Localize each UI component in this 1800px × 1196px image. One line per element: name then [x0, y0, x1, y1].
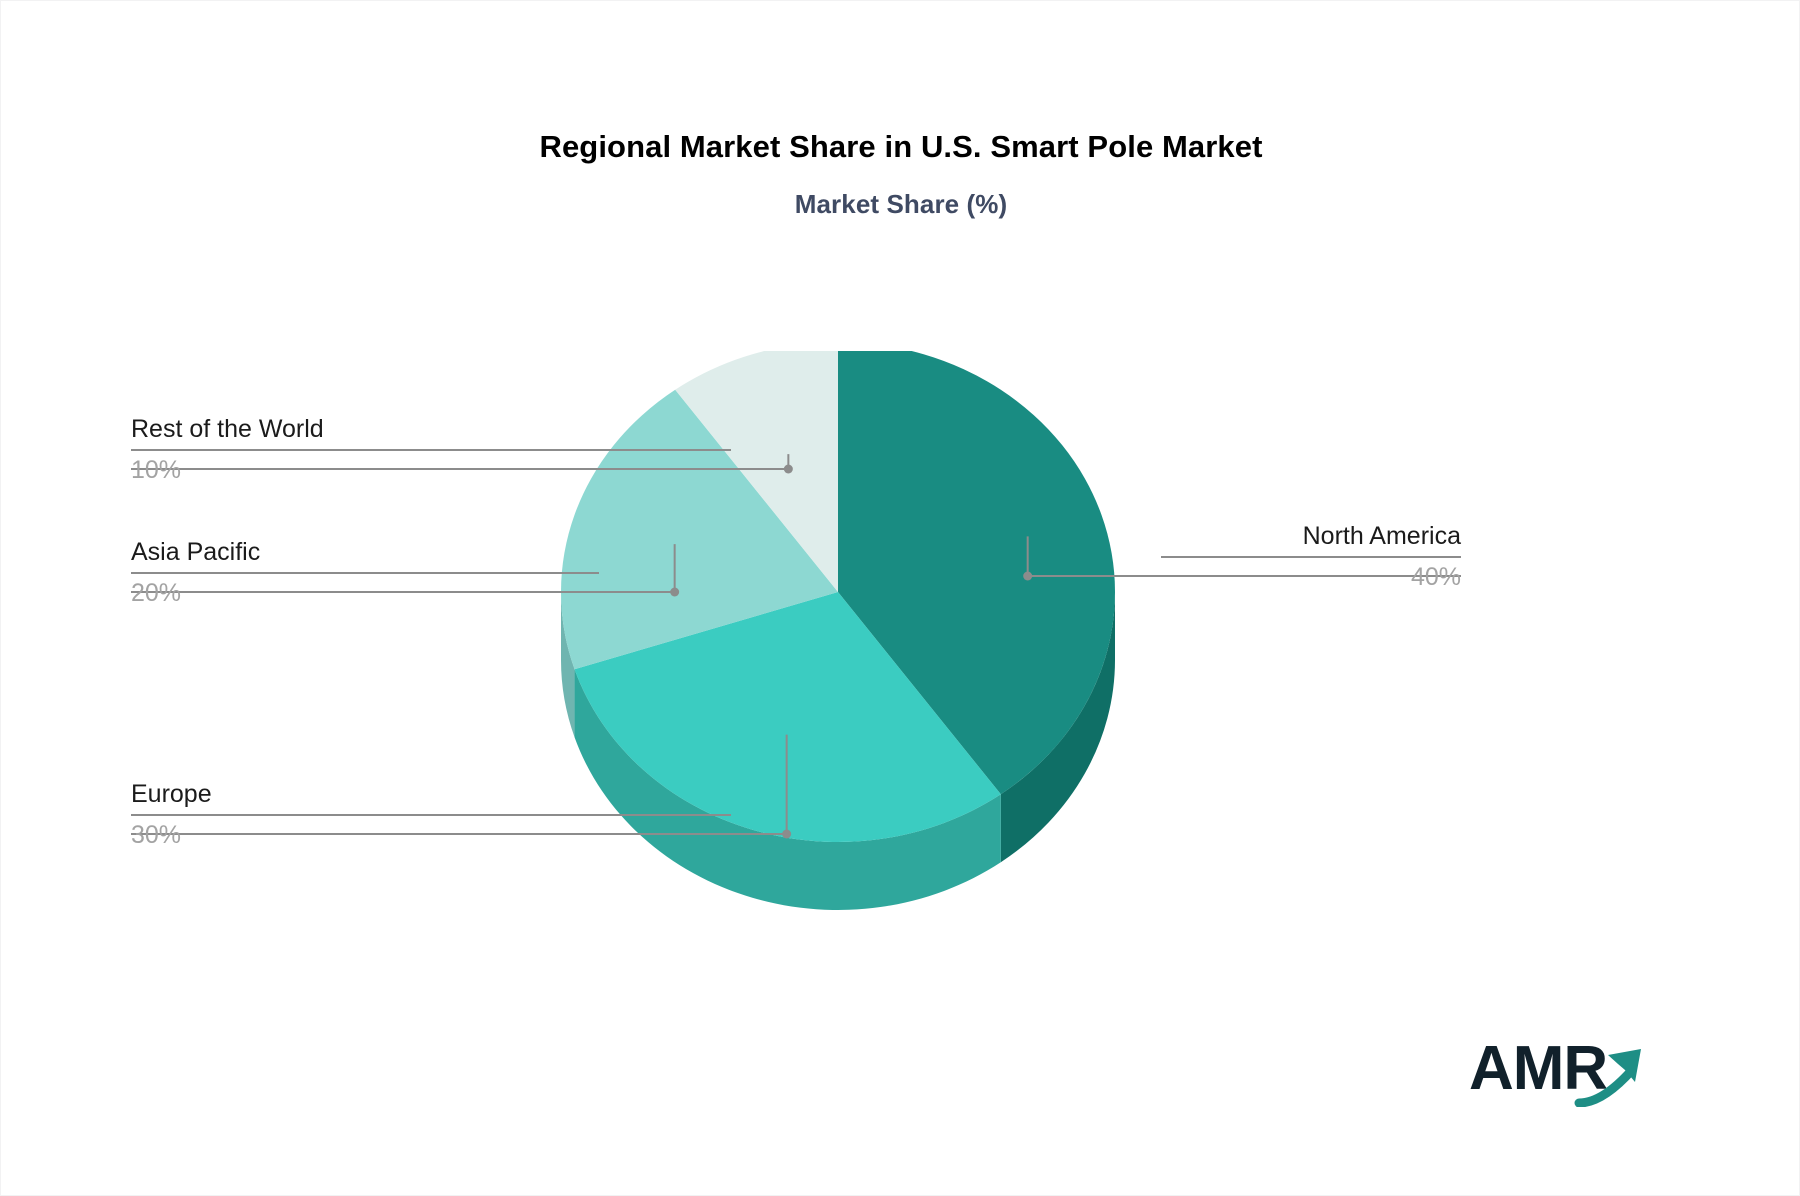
- callout-label-europe: Europe: [131, 779, 731, 809]
- page-title: Regional Market Share in U.S. Smart Pole…: [1, 129, 1800, 165]
- callout-rule: [131, 449, 731, 451]
- callout-label-asia-pacific: Asia Pacific: [131, 537, 599, 567]
- amr-logo: AMR: [1469, 1029, 1659, 1107]
- callout-rule: [131, 814, 731, 816]
- callout-value-europe: 30%: [131, 820, 731, 850]
- callout-europe[interactable]: Europe 30%: [131, 779, 731, 850]
- callout-rule: [1161, 556, 1461, 558]
- callout-label-north-america: North America: [1161, 521, 1461, 551]
- callout-value-rest-of-the-world: 10%: [131, 455, 731, 485]
- callout-rule: [131, 572, 599, 574]
- chart-canvas: Regional Market Share in U.S. Smart Pole…: [0, 0, 1800, 1196]
- amr-logo-svg: AMR: [1469, 1029, 1659, 1107]
- callout-asia-pacific[interactable]: Asia Pacific 20%: [131, 537, 599, 608]
- callout-rest-of-the-world[interactable]: Rest of the World 10%: [131, 414, 731, 485]
- callout-north-america[interactable]: North America 40%: [1161, 521, 1461, 592]
- callout-value-north-america: 40%: [1161, 562, 1461, 592]
- callout-value-asia-pacific: 20%: [131, 578, 599, 608]
- chart-subtitle: Market Share (%): [1, 189, 1800, 220]
- amr-logo-wordmark: AMR: [1469, 1034, 1607, 1103]
- callout-label-rest-of-the-world: Rest of the World: [131, 414, 731, 444]
